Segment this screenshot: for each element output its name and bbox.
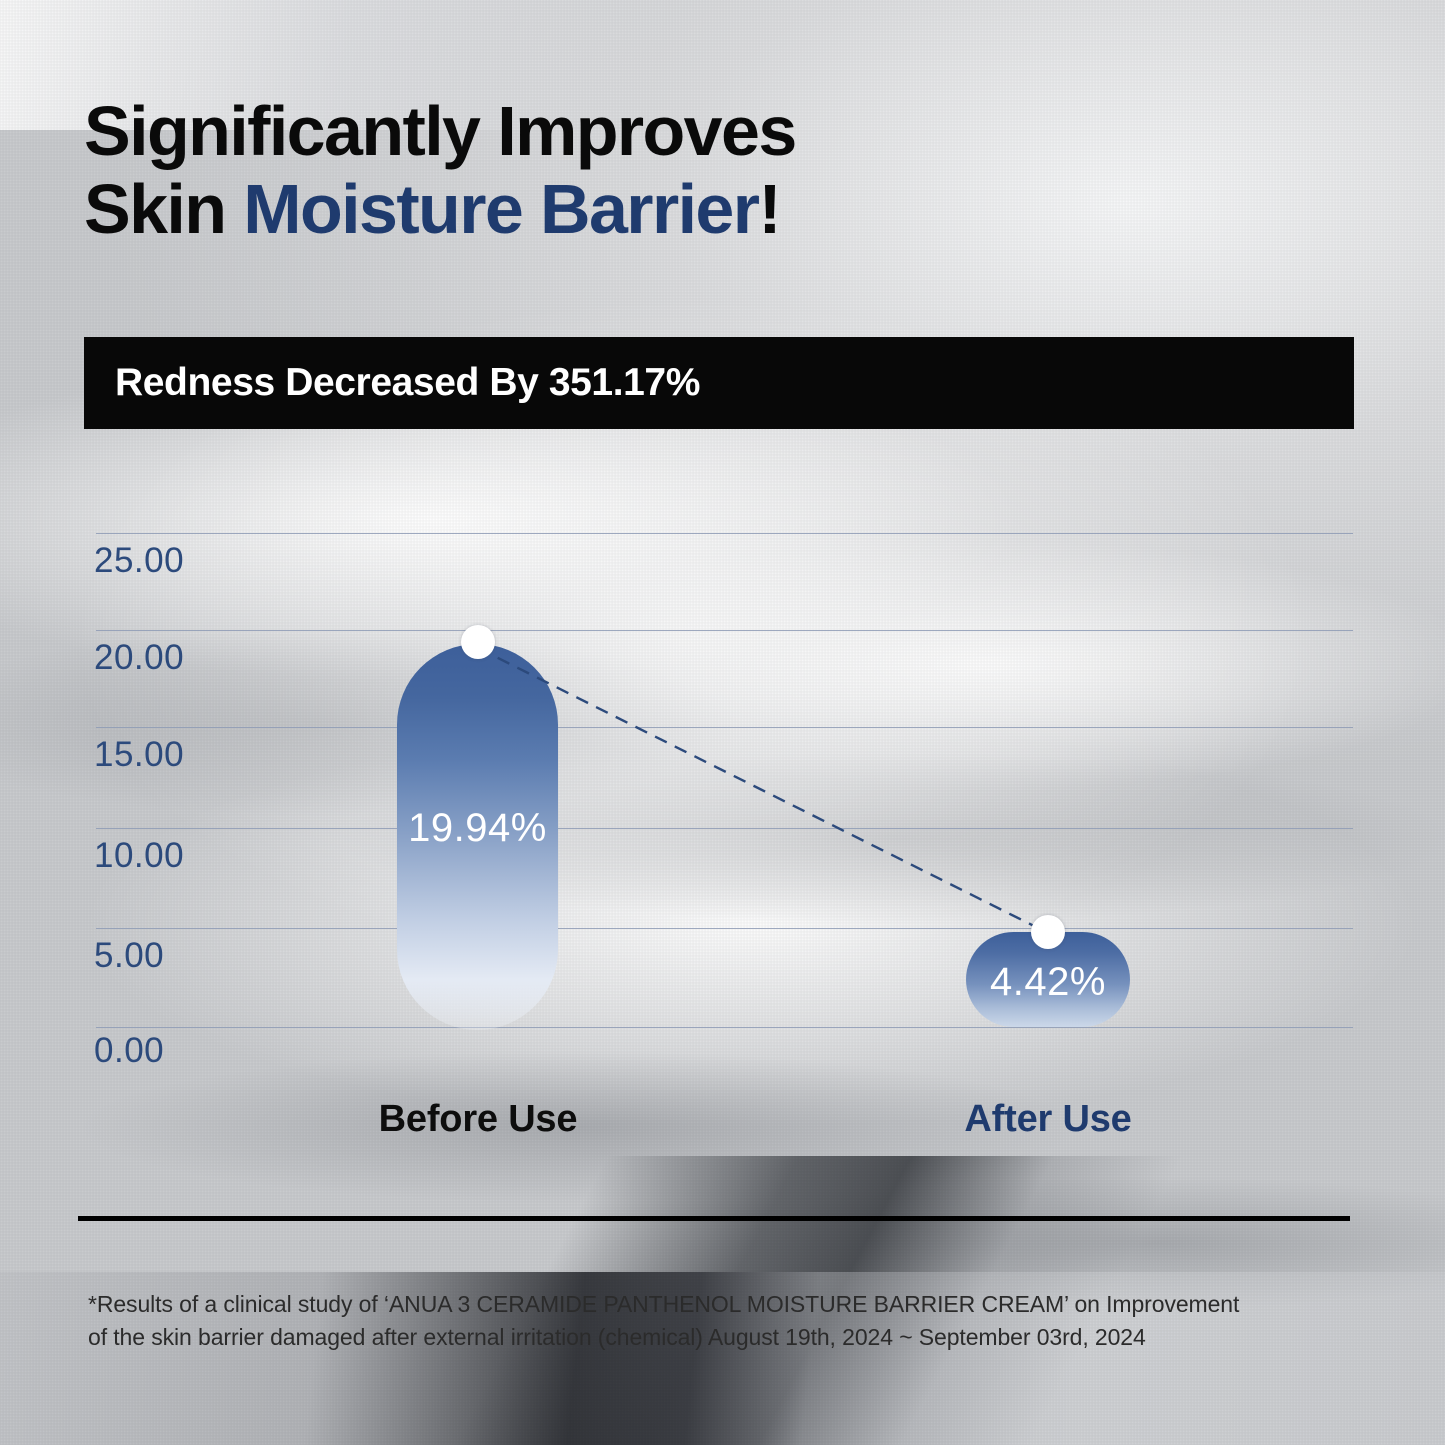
dashed-trend-line [478, 648, 1046, 932]
bar-chart: 25.00 20.00 15.00 10.00 5.00 0.00 19.94%… [0, 0, 1445, 1445]
marker-dot-after [1031, 915, 1065, 949]
footnote-line-two: of the skin barrier damaged after extern… [88, 1321, 1363, 1354]
infographic-page: Significantly ImprovesSkin Moisture Barr… [0, 0, 1445, 1445]
footer-divider [78, 1216, 1350, 1221]
trend-connector-line [0, 0, 1445, 1445]
marker-dot-before [461, 625, 495, 659]
x-category-label-after: After Use [898, 1098, 1198, 1141]
footnote-line-one: *Results of a clinical study of ‘ANUA 3 … [88, 1288, 1363, 1321]
footnote: *Results of a clinical study of ‘ANUA 3 … [88, 1288, 1363, 1353]
bar-value-label-after: 4.42% [966, 960, 1130, 1005]
bar-value-label-before: 19.94% [397, 806, 558, 851]
x-category-label-before: Before Use [328, 1098, 628, 1141]
